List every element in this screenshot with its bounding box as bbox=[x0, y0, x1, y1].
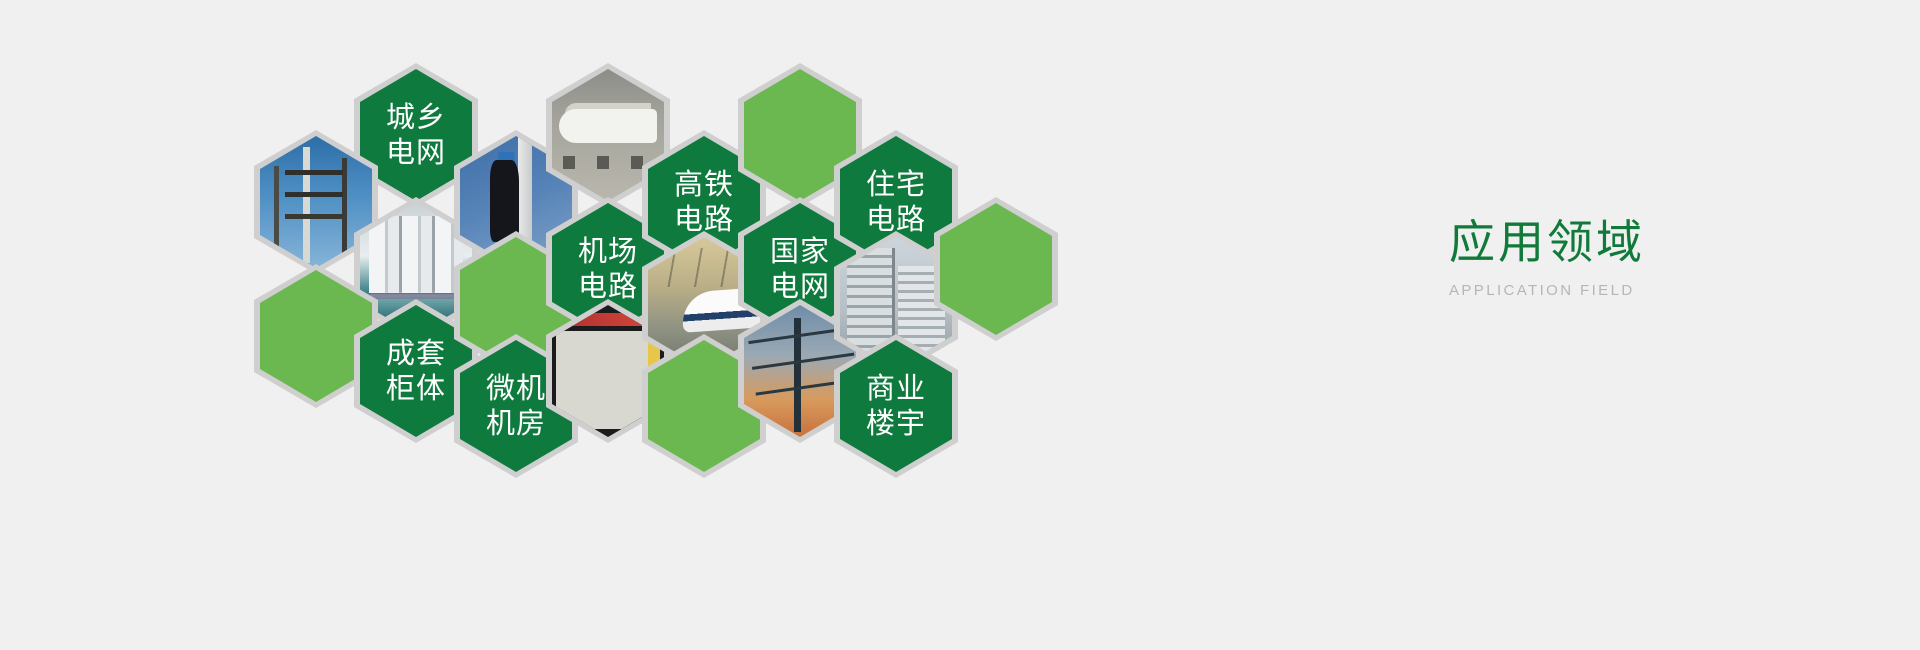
hexagon-inner: 商业 楼宇 bbox=[840, 340, 952, 472]
page-subtitle: APPLICATION FIELD bbox=[1449, 282, 1869, 299]
hexagon-label-switchgear-set: 成套 柜体 bbox=[386, 336, 446, 407]
hexagon-label-commercial-bldg: 商业 楼宇 bbox=[866, 371, 926, 442]
hexagon-label-rural-grid: 城乡 电网 bbox=[386, 100, 446, 171]
page-title: 应用领域 bbox=[1449, 219, 1869, 265]
hexagon-label-home-circuit: 住宅 电路 bbox=[866, 167, 926, 238]
heading-block: 应用领域 APPLICATION FIELD bbox=[1449, 219, 1869, 299]
hexagon-inner bbox=[940, 203, 1052, 335]
hexagon-label-airport-circuit: 机场 电路 bbox=[578, 234, 638, 305]
hexagon-label-hsr-circuit: 高铁 电路 bbox=[674, 167, 734, 238]
application-field-banner: 城乡 电网成套 柜体微机 机房机场 电路高铁 电路国家 电网住宅 电路商业 楼宇… bbox=[0, 0, 1920, 650]
hexagon-label-computer-room: 微机 机房 bbox=[486, 371, 546, 442]
hexagon-label-state-grid: 国家 电网 bbox=[770, 234, 830, 305]
